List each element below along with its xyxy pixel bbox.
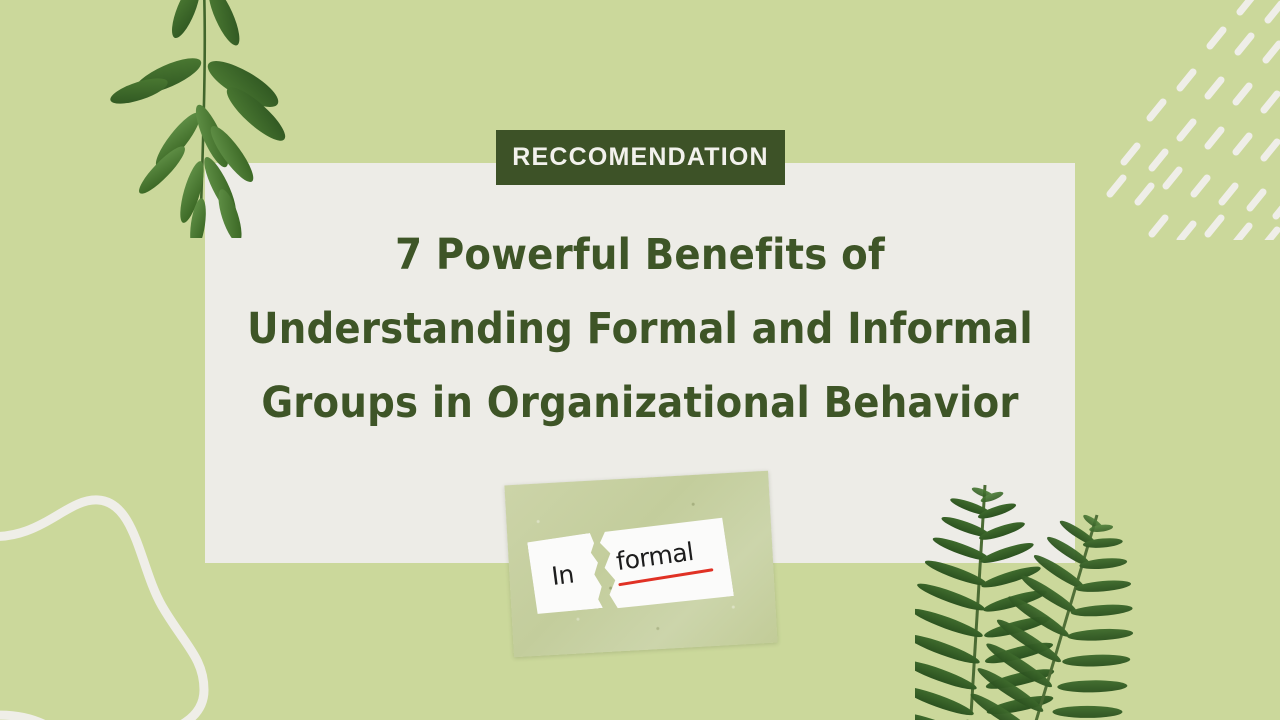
title-line-1: 7 Powerful Benefits of <box>215 218 1065 292</box>
page-title: 7 Powerful Benefits of Understanding For… <box>215 218 1065 440</box>
torn-paper-photo: In formal <box>504 471 777 657</box>
category-badge: RECCOMENDATION <box>496 130 785 185</box>
title-line-2: Understanding Formal and Informal <box>215 292 1065 366</box>
title-line-3: Groups in Organizational Behavior <box>215 366 1065 440</box>
poster-canvas: RECCOMENDATION 7 Powerful Benefits of Un… <box>0 0 1280 720</box>
paper-right-text: formal <box>614 537 695 576</box>
paper-left-text: In <box>550 559 576 591</box>
diagonal-dashes-decoration <box>1090 0 1280 240</box>
badge-label: RECCOMENDATION <box>512 145 769 170</box>
